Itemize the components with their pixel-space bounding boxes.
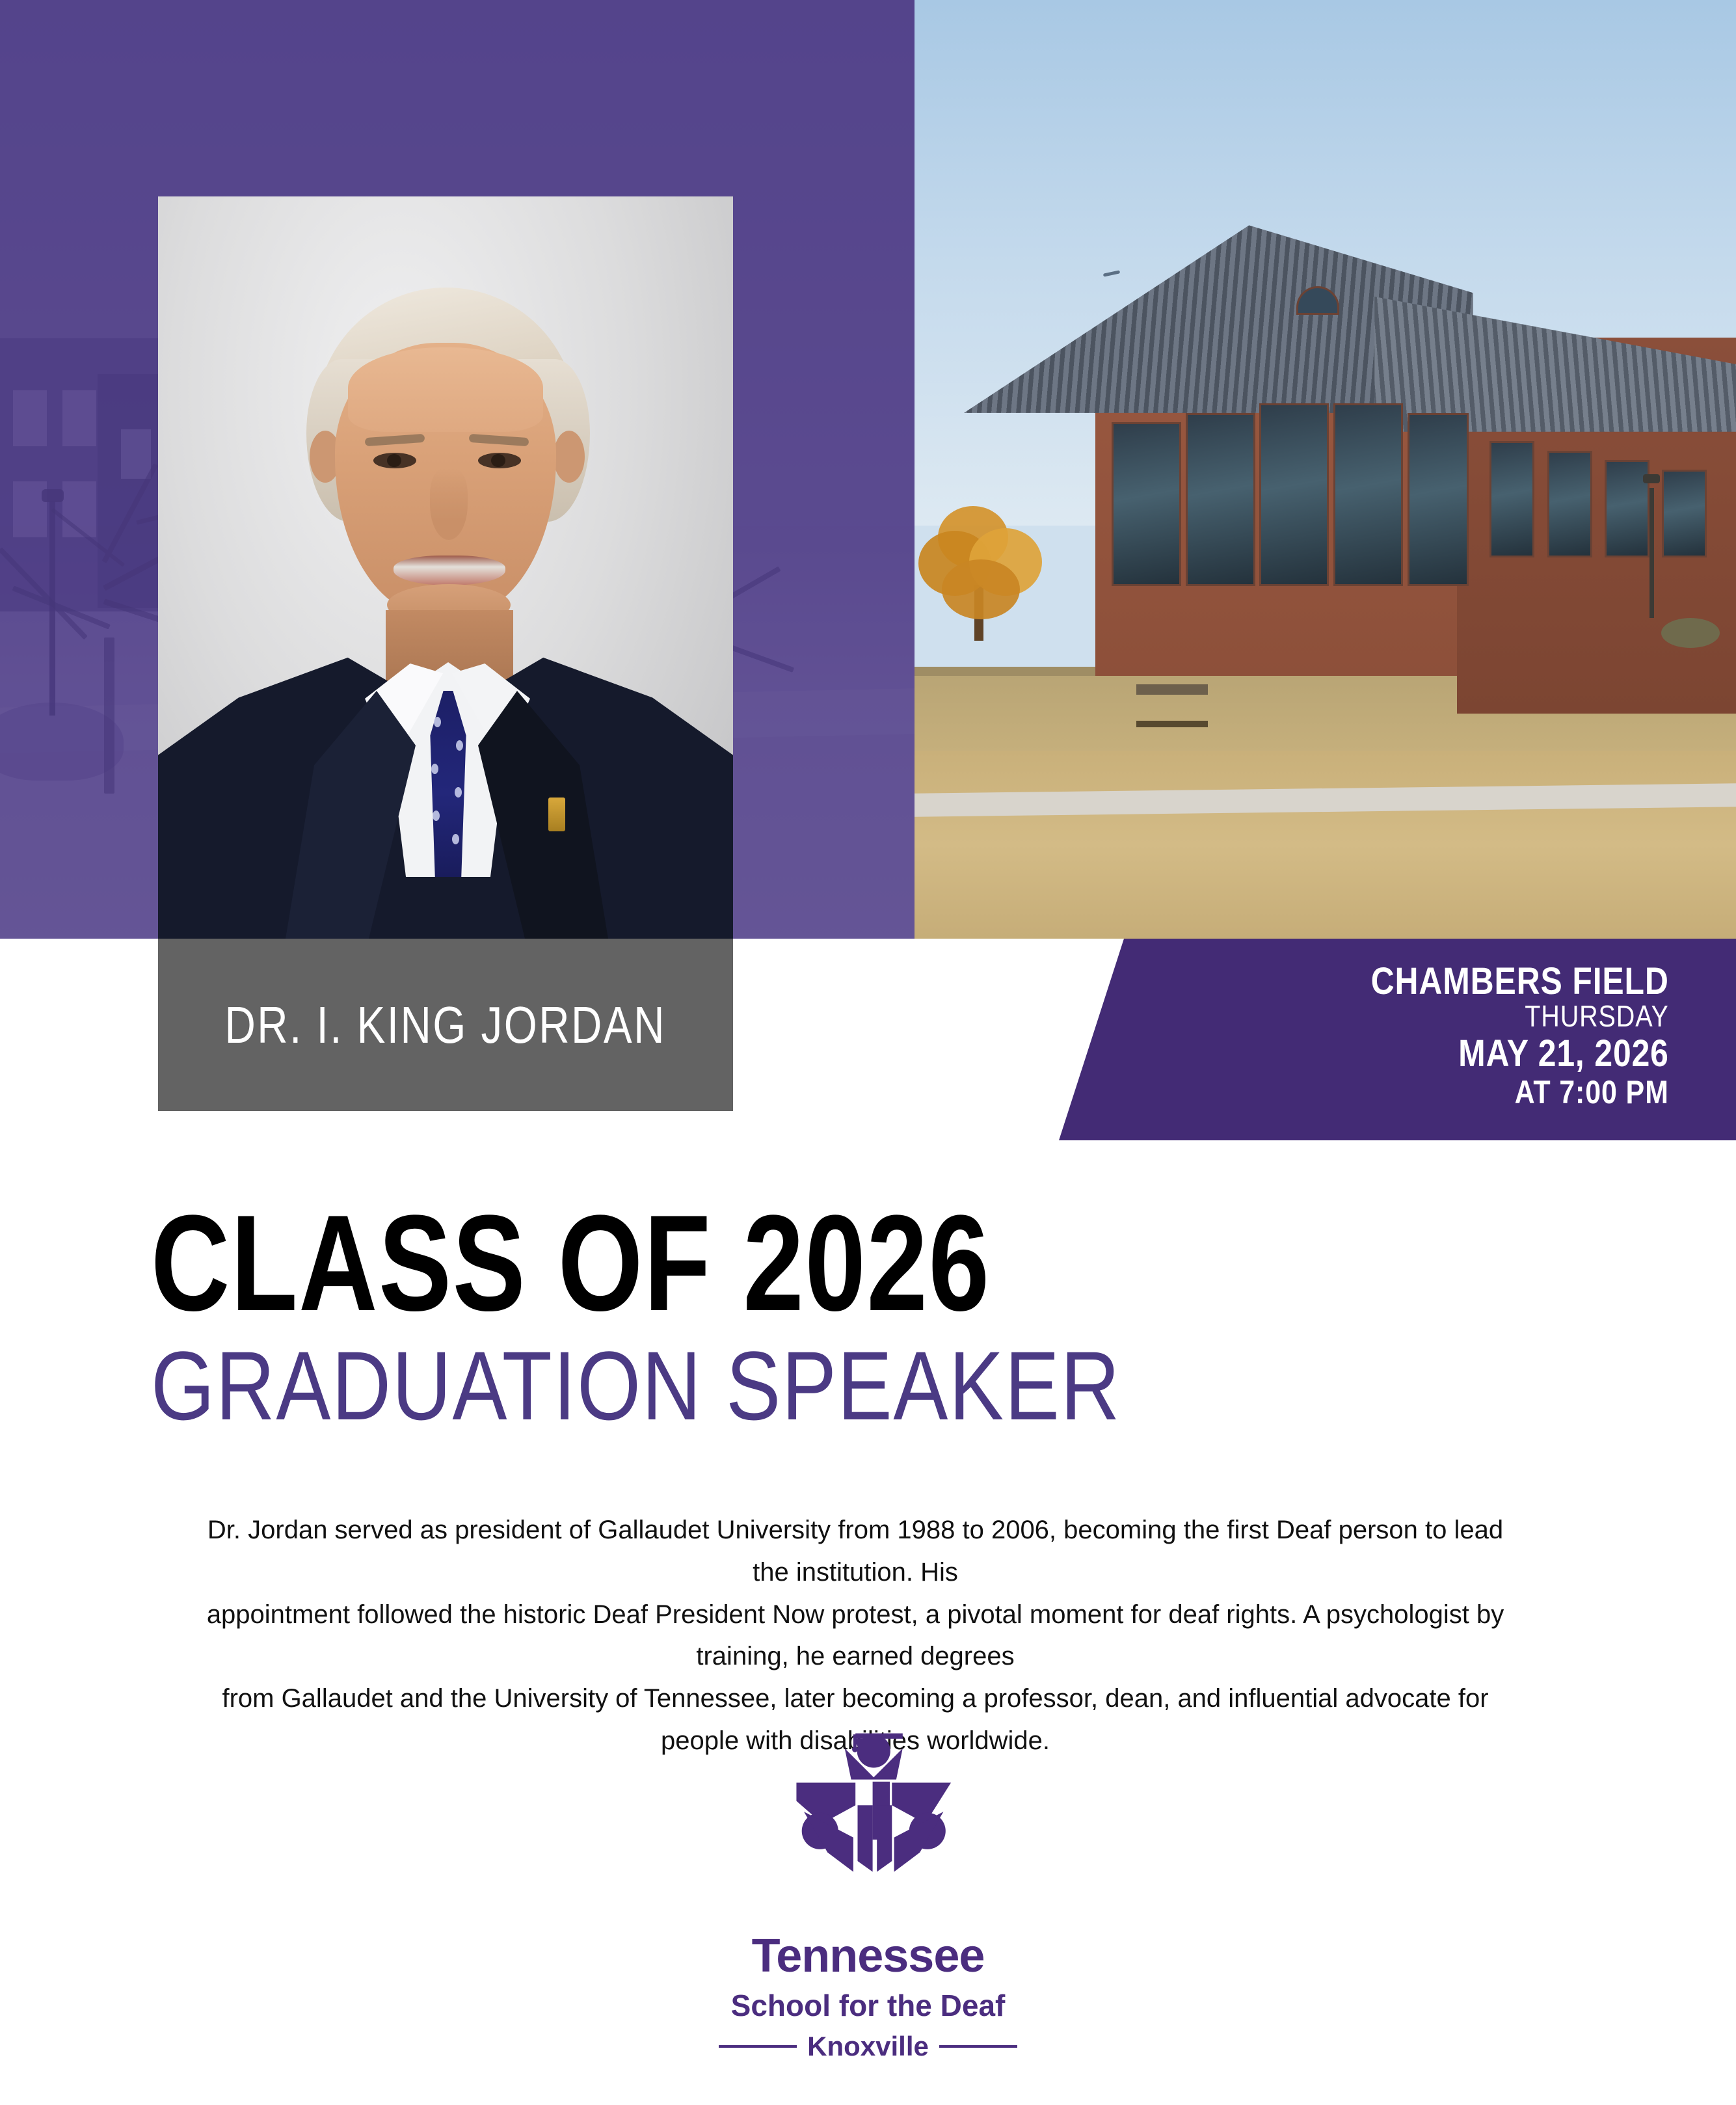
- logo-city-row: Knoxville: [719, 2031, 1017, 2062]
- building-window: [1408, 413, 1469, 586]
- poster-subheadline: GRADUATION SPEAKER: [151, 1332, 1353, 1440]
- building-window: [1662, 470, 1707, 558]
- necktie-pattern-dot: [455, 787, 462, 798]
- event-details-stack: CHAMBERS FIELD THURSDAY MAY 21, 2026 AT …: [1322, 962, 1669, 1110]
- campus-bench: [1136, 684, 1208, 695]
- building-window: [1259, 403, 1329, 585]
- portrait-smile: [394, 556, 505, 585]
- logo-subtitle: School for the Deaf: [731, 1988, 1006, 2023]
- title-block: CLASS OF 2026 GRADUATION SPEAKER: [151, 1198, 1582, 1440]
- event-weekday: THURSDAY: [1371, 1000, 1669, 1033]
- portrait-iris-left: [387, 454, 401, 467]
- event-details-box: CHAMBERS FIELD THURSDAY MAY 21, 2026 AT …: [1038, 939, 1736, 1140]
- building-window: [1605, 460, 1649, 557]
- photo-foreground-lawn: [915, 751, 1736, 939]
- building-window: [1112, 422, 1181, 585]
- necktie-pattern-dot: [456, 740, 463, 751]
- bio-line-2: appointment followed the historic Deaf P…: [195, 1594, 1516, 1678]
- portrait-lapel-pin: [548, 798, 565, 831]
- portrait-forehead: [348, 347, 543, 432]
- logo-name: Tennessee: [752, 1929, 985, 1983]
- tsd-logo: Tennessee School for the Deaf Knoxville: [0, 1711, 1736, 2062]
- logo-rule-left: [719, 2045, 797, 2048]
- light-pole-head: [1643, 474, 1660, 483]
- event-time: AT 7:00 PM: [1371, 1075, 1669, 1110]
- necktie-pattern-dot: [431, 764, 438, 774]
- campus-building-photo: [915, 0, 1736, 939]
- speaker-name-banner: DR. I. KING JORDAN: [158, 939, 733, 1111]
- tsd-graduate-mark-icon: [761, 1711, 976, 1925]
- building-window: [1333, 403, 1403, 585]
- bio-line-1: Dr. Jordan served as president of Gallau…: [195, 1509, 1516, 1594]
- light-pole: [1649, 488, 1654, 618]
- building-window: [1547, 451, 1592, 558]
- poster-headline: CLASS OF 2026: [151, 1198, 1296, 1328]
- header-image-band: [0, 0, 1736, 939]
- speaker-name-label: DR. I. KING JORDAN: [225, 995, 666, 1055]
- autumn-tree: [918, 488, 1042, 637]
- necktie-pattern-dot: [434, 717, 441, 727]
- photo-shrub: [1661, 618, 1720, 648]
- speaker-portrait: [158, 196, 733, 939]
- campus-bench-seat: [1136, 721, 1208, 727]
- necktie-pattern-dot: [452, 834, 459, 844]
- event-date: MAY 21, 2026: [1371, 1033, 1669, 1075]
- necktie-pattern-dot: [433, 811, 440, 821]
- portrait-nose: [430, 468, 468, 540]
- graduation-speaker-poster: DR. I. KING JORDAN CHAMBERS FIELD THURSD…: [0, 0, 1736, 2105]
- portrait-iris-right: [491, 454, 505, 467]
- portrait-ear-right: [554, 431, 585, 483]
- logo-city: Knoxville: [807, 2031, 929, 2062]
- building-window: [1186, 413, 1255, 586]
- building-window: [1489, 441, 1534, 557]
- event-venue: CHAMBERS FIELD: [1371, 962, 1669, 1000]
- logo-rule-right: [939, 2045, 1017, 2048]
